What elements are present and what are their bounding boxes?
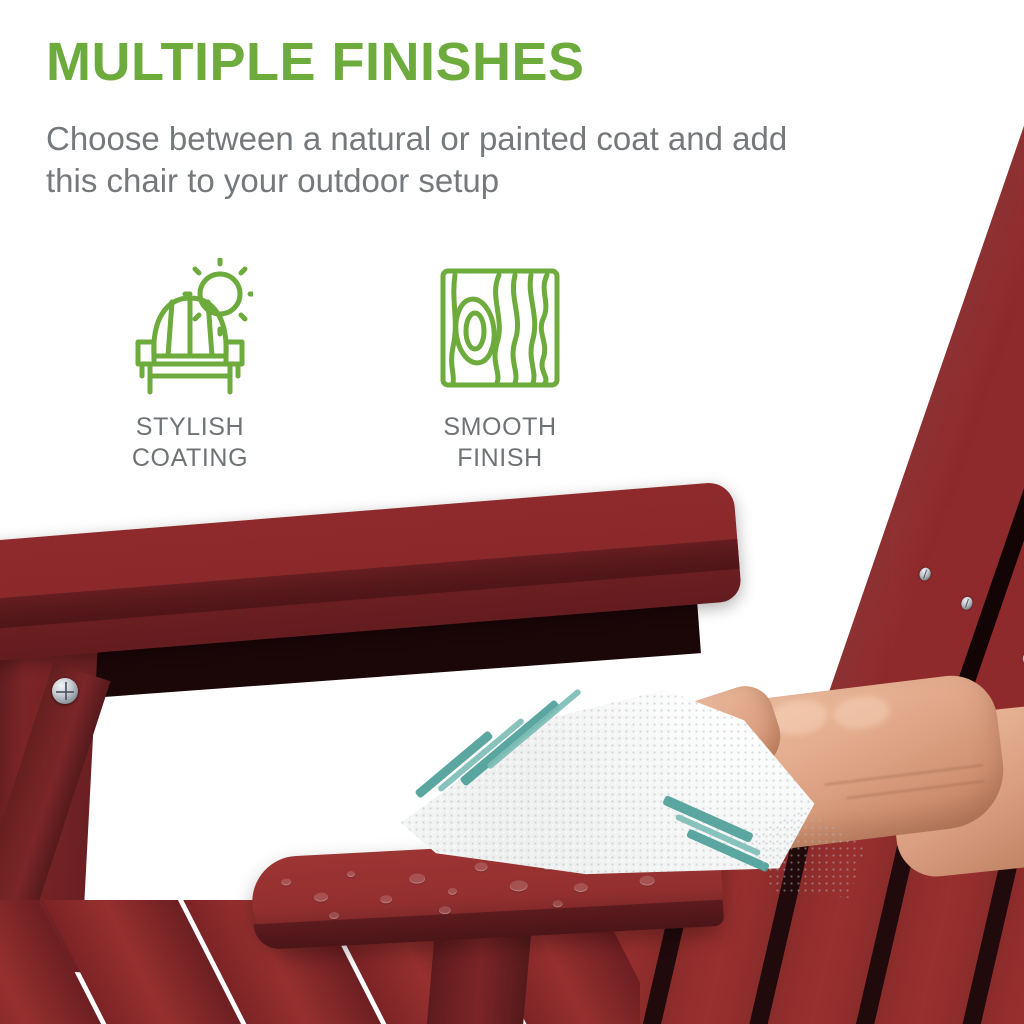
feature-item-smooth-finish: SMOOTH FINISH bbox=[420, 258, 580, 473]
text-overlay: MULTIPLE FINISHES Choose between a natur… bbox=[0, 0, 1024, 1024]
subtitle: Choose between a natural or painted coat… bbox=[46, 118, 806, 202]
feature-label: SMOOTH FINISH bbox=[443, 412, 556, 473]
page-title: MULTIPLE FINISHES bbox=[46, 34, 585, 91]
feature-label: STYLISH COATING bbox=[132, 412, 248, 473]
feature-list: STYLISH COATING bbox=[110, 258, 580, 473]
feature-item-stylish-coating: STYLISH COATING bbox=[110, 258, 270, 473]
wood-grain-square-icon bbox=[439, 258, 561, 398]
adirondack-chair-with-sun-icon bbox=[128, 258, 253, 398]
product-feature-image: MULTIPLE FINISHES Choose between a natur… bbox=[0, 0, 1024, 1024]
